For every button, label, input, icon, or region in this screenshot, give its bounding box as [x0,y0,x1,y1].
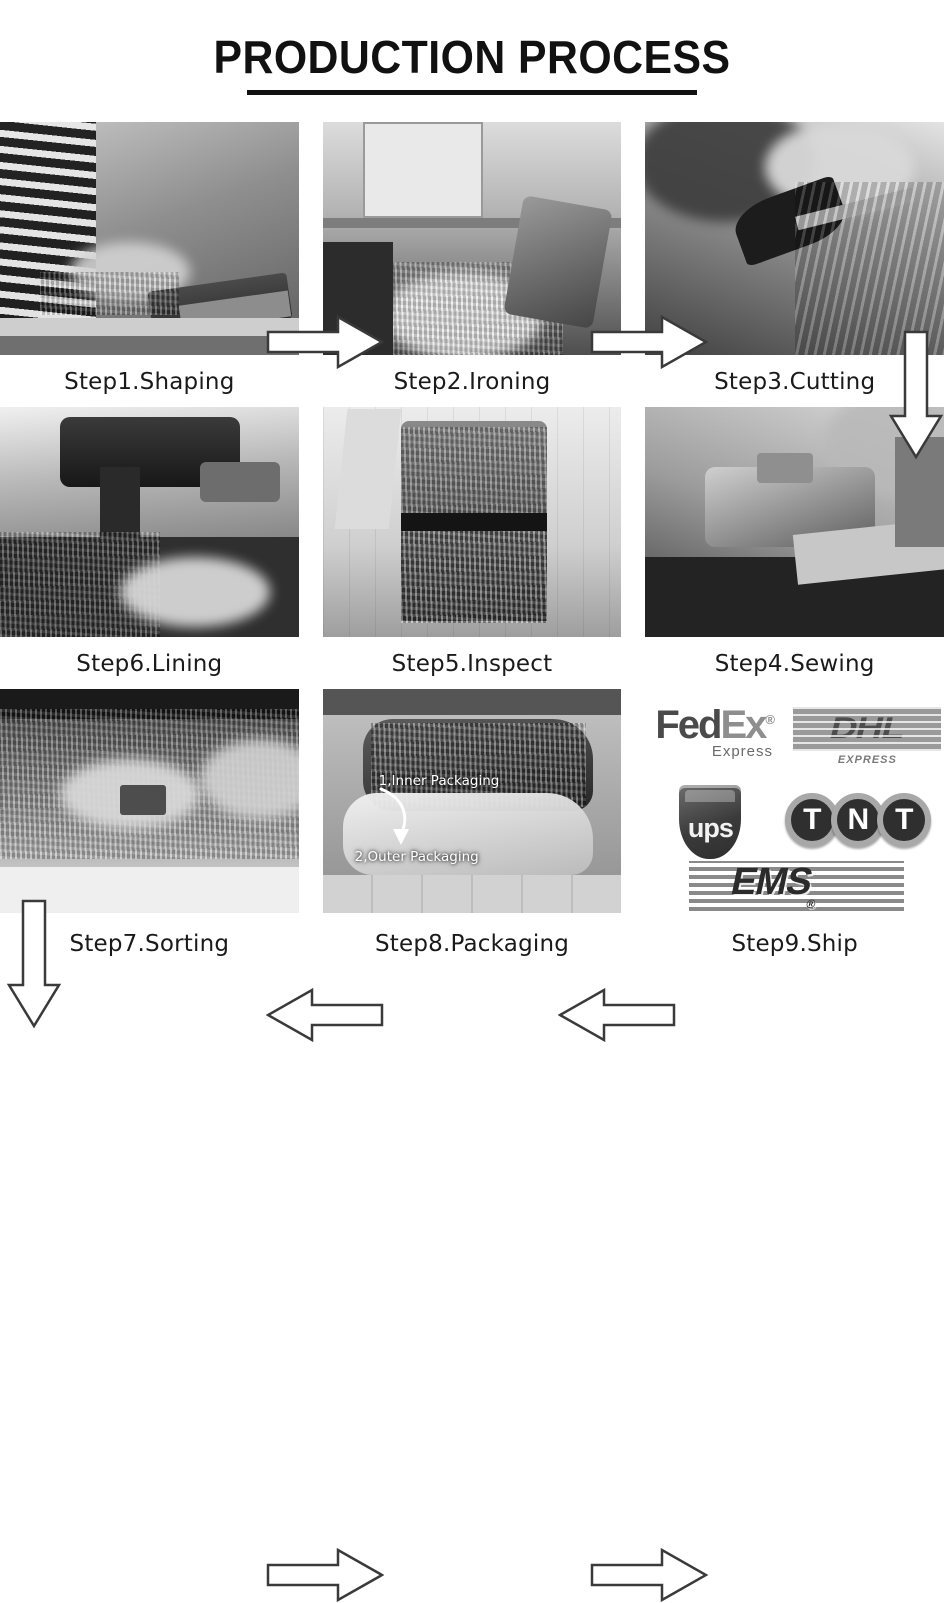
page-header: PRODUCTION PROCESS [0,0,944,95]
ems-logo: EMS® [689,861,904,911]
packaging-note-outer: 2,Outer Packaging [355,849,479,865]
step-photo-packaging[interactable]: 1,Inner Packaging 2,Outer Packaging [323,689,622,913]
process-row-3: 1,Inner Packaging 2,Outer Packaging FedE… [0,689,944,957]
ups-logo: ups [679,785,741,859]
ups-wordmark: ups [679,813,741,844]
step-label-5: Step5.Inspect [323,651,622,677]
fedex-wordmark-fed: Fed [655,703,720,747]
step-label-8: Step8.Packaging [323,931,622,957]
step-label-2: Step2.Ironing [323,369,622,395]
step-label-9: Step9.Ship [645,931,944,957]
carrier-logo-board[interactable]: FedEx® Express DHL EXPRESS [645,689,944,913]
row-2-labels: Step6.Lining Step5.Inspect Step4.Sewing [0,637,944,689]
row-1-labels: Step1.Shaping Step2.Ironing Step3.Cuttin… [0,355,944,407]
arrow-step7-to-step8 [266,1547,384,1603]
row-3-labels: Step7.Sorting Step8.Packaging Step9.Ship [0,913,944,957]
arrow-step6-to-step7 [6,899,62,1029]
fedex-logo: FedEx® Express [655,705,773,760]
dhl-sublabel: EXPRESS [793,754,941,766]
step-photo-inspect[interactable] [323,407,622,637]
arrow-step8-to-step9 [590,1547,708,1603]
dhl-stripes [793,707,941,751]
page-title: PRODUCTION PROCESS [213,34,730,80]
ems-wordmark: EMS® [726,861,824,911]
title-underline [247,90,697,95]
process-row-1: Step1.Shaping Step2.Ironing Step3.Cuttin… [0,122,944,407]
arrow-step3-to-step4 [888,330,944,460]
fedex-registered-mark: ® [765,712,773,727]
tnt-logo: T N T [785,793,931,847]
tnt-letter-3: T [877,793,931,847]
arrow-step1-to-step2 [266,314,384,370]
fedex-wordmark-ex: Ex [720,703,765,747]
step-label-6: Step6.Lining [0,651,299,677]
dhl-logo: DHL EXPRESS [793,707,941,766]
process-row-2: Step6.Lining Step5.Inspect Step4.Sewing [0,407,944,689]
arrow-step5-to-step6 [266,987,384,1043]
step-photo-shaping[interactable] [0,122,299,355]
step-label-4: Step4.Sewing [645,651,944,677]
process-grid: Step1.Shaping Step2.Ironing Step3.Cuttin… [0,122,944,957]
step-photo-sorting[interactable] [0,689,299,913]
step-label-1: Step1.Shaping [0,369,299,395]
packaging-curve-arrow [375,785,445,854]
step-photo-lining[interactable] [0,407,299,637]
arrow-step2-to-step3 [590,314,708,370]
arrow-step4-to-step5 [558,987,676,1043]
